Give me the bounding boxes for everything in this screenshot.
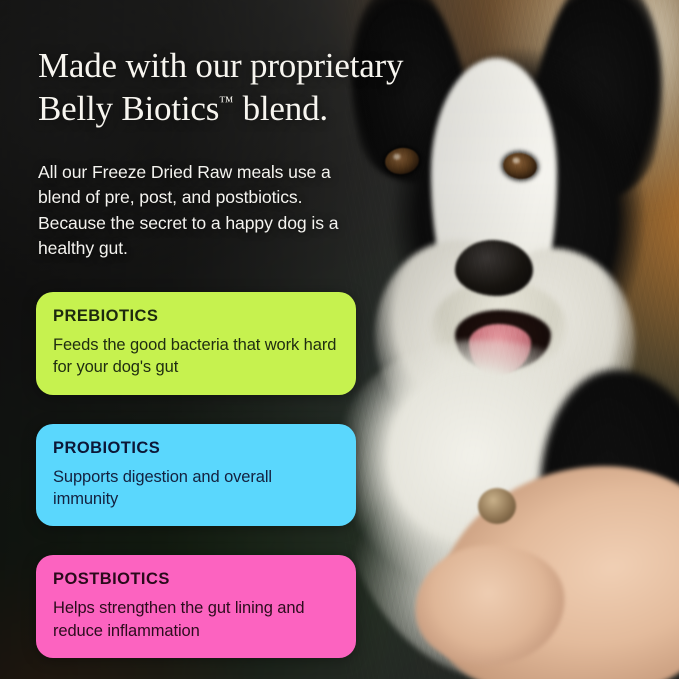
trademark-symbol: ™ [219, 94, 234, 110]
headline-brand-name: Belly Biotics [38, 89, 219, 128]
benefit-card-title: POSTBIOTICS [53, 570, 339, 588]
benefit-card-title: PREBIOTICS [53, 307, 339, 325]
subcopy-paragraph: All our Freeze Dried Raw meals use a ble… [38, 160, 350, 261]
benefit-card-body: Helps strengthen the gut lining and redu… [53, 597, 339, 642]
benefit-card-body: Supports digestion and overall immunity [53, 466, 339, 511]
benefit-card-probiotics: PROBIOTICS Supports digestion and overal… [36, 424, 356, 527]
content-overlay: Made with our proprietary Belly Biotics™… [0, 0, 679, 679]
benefit-card-postbiotics: POSTBIOTICS Helps strengthen the gut lin… [36, 555, 356, 658]
page-title: Made with our proprietary Belly Biotics™… [38, 44, 468, 130]
headline-line-1: Made with our proprietary [38, 46, 403, 85]
benefit-card-title: PROBIOTICS [53, 439, 339, 457]
headline-line-2-suffix: blend. [234, 89, 328, 128]
benefit-card-prebiotics: PREBIOTICS Feeds the good bacteria that … [36, 292, 356, 395]
product-feature-card: Made with our proprietary Belly Biotics™… [0, 0, 679, 679]
benefit-card-body: Feeds the good bacteria that work hard f… [53, 334, 339, 379]
benefit-card-list: PREBIOTICS Feeds the good bacteria that … [36, 292, 356, 658]
